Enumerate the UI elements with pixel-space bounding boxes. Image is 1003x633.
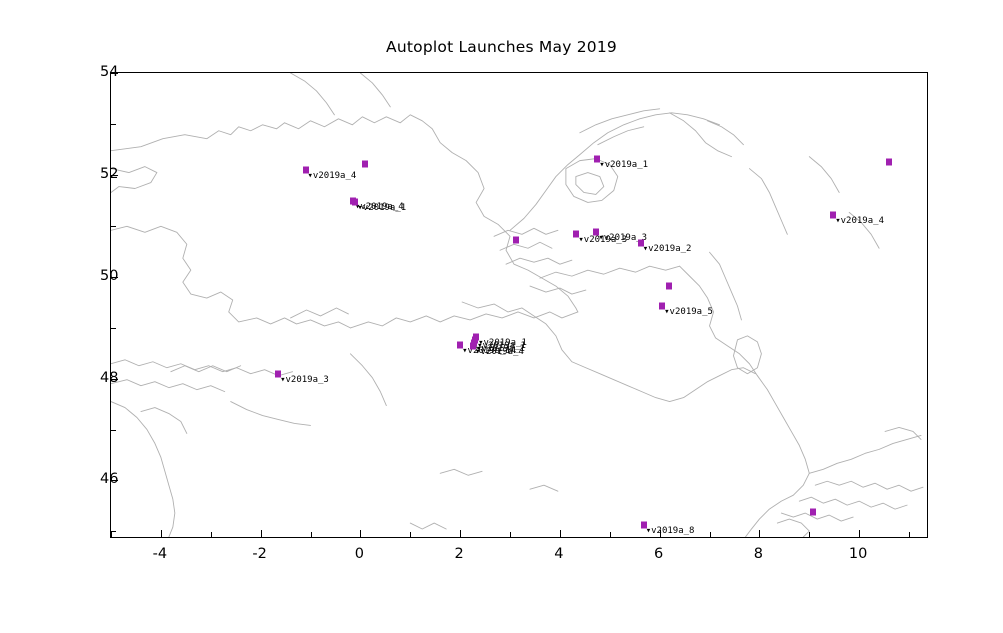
data-point-marker[interactable] bbox=[886, 158, 892, 165]
x-tick-minor bbox=[510, 532, 511, 537]
x-tick-minor bbox=[111, 532, 112, 537]
x-tick-label: -4 bbox=[153, 546, 167, 562]
x-tick-label: 2 bbox=[455, 546, 464, 562]
y-tick-label: 54 bbox=[100, 64, 118, 80]
y-tick-minor bbox=[111, 430, 116, 431]
x-tick-major bbox=[261, 530, 262, 537]
x-tick-major bbox=[161, 530, 162, 537]
x-tick-major bbox=[660, 530, 661, 537]
data-point-label: ▾v2019a_4 bbox=[475, 348, 524, 357]
data-point-label: ▾v2019a_4 bbox=[835, 217, 884, 226]
x-tick-label: 4 bbox=[554, 546, 563, 562]
y-tick-minor bbox=[111, 124, 116, 125]
x-tick-minor bbox=[410, 532, 411, 537]
x-tick-major bbox=[360, 530, 361, 537]
y-tick-minor bbox=[111, 328, 116, 329]
data-point-label: ▾v2019a_4 bbox=[308, 172, 357, 181]
y-tick-label: 46 bbox=[100, 471, 118, 487]
figure-canvas: Autoplot Launches May 2019 bbox=[0, 0, 1003, 633]
data-point-label: ▾v2019a_1 bbox=[599, 161, 648, 170]
x-tick-major bbox=[859, 530, 860, 537]
map-plot-area[interactable]: ▾v2019a_4▾v2019a_4▾v2019a_1▾v2019a_1▾v20… bbox=[110, 72, 928, 538]
data-point-marker[interactable] bbox=[362, 160, 368, 167]
x-tick-major bbox=[560, 530, 561, 537]
data-point-label: ▾v2019a_8 bbox=[646, 527, 695, 536]
y-tick-minor bbox=[111, 226, 116, 227]
x-tick-label: 8 bbox=[754, 546, 763, 562]
coastline-map bbox=[111, 73, 927, 537]
y-tick-minor bbox=[111, 531, 116, 532]
data-point-label: ▾v2019a_1 bbox=[357, 204, 406, 213]
x-tick-minor bbox=[610, 532, 611, 537]
data-point-label: ▾v2019a_5 bbox=[664, 308, 713, 317]
x-tick-label: 0 bbox=[355, 546, 364, 562]
x-tick-minor bbox=[809, 532, 810, 537]
x-tick-major bbox=[759, 530, 760, 537]
x-tick-label: 10 bbox=[849, 546, 867, 562]
x-tick-minor bbox=[710, 532, 711, 537]
x-tick-major bbox=[460, 530, 461, 537]
x-tick-minor bbox=[909, 532, 910, 537]
x-tick-label: 6 bbox=[654, 546, 663, 562]
page-title: Autoplot Launches May 2019 bbox=[0, 38, 1003, 56]
y-tick-label: 52 bbox=[100, 166, 118, 182]
data-point-marker[interactable] bbox=[810, 509, 816, 516]
y-tick-label: 50 bbox=[100, 268, 118, 284]
data-point-label: ▾v2019a_3 bbox=[280, 376, 329, 385]
data-point-label: ▾v2019a_2 bbox=[643, 245, 692, 254]
data-point-marker[interactable] bbox=[666, 282, 672, 289]
x-tick-label: -2 bbox=[252, 546, 266, 562]
x-tick-minor bbox=[211, 532, 212, 537]
x-tick-minor bbox=[311, 532, 312, 537]
data-point-marker[interactable] bbox=[513, 237, 519, 244]
y-tick-label: 48 bbox=[100, 370, 118, 386]
